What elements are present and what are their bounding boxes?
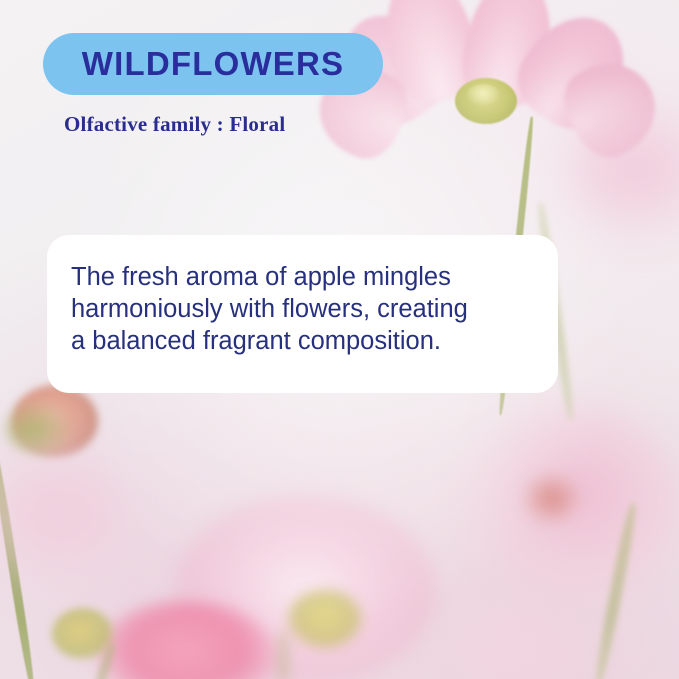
flower-center-highlight: [466, 84, 500, 106]
flower-stem: [276, 630, 290, 679]
wildflowers-badge: WILDFLOWERS: [43, 33, 383, 95]
description-card: The fresh aroma of apple mingles harmoni…: [47, 235, 558, 393]
description-text: The fresh aroma of apple mingles harmoni…: [71, 261, 541, 357]
olfactive-family-subtitle: Olfactive family : Floral: [64, 112, 285, 137]
image-canvas: WILDFLOWERS Olfactive family : Floral Th…: [0, 0, 679, 679]
badge-label: WILDFLOWERS: [82, 45, 345, 83]
